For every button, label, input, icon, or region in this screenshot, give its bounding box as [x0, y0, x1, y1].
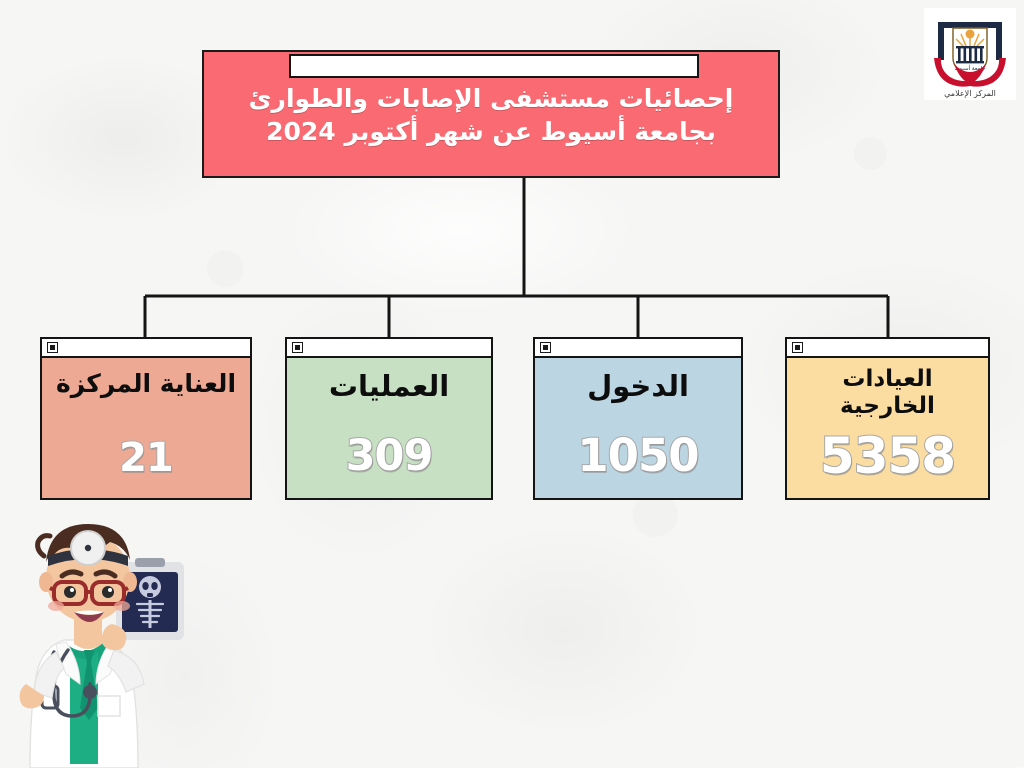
stat-card-label-admissions: الدخول: [535, 369, 741, 403]
page-title-line-2: بجامعة أسيوط عن شهر أكتوبر 2024: [218, 115, 764, 148]
stat-card-topbar: [287, 339, 491, 358]
cartoon-doctor-illustration: [0, 500, 209, 768]
page-title-line-1: إحصائيات مستشفى الإصابات والطوارئ: [218, 82, 764, 115]
stat-card-label-outpatient: العيادات الخارجية: [787, 366, 988, 420]
stat-card-topbar: [787, 339, 988, 358]
stat-card-icu: العناية المركزة 21: [40, 337, 252, 500]
window-square-icon: [48, 343, 57, 352]
stat-card-admissions: الدخول 1050: [533, 337, 743, 500]
assiut-university-media-center-logo: جامعة أسيوط المركز الإعلامي: [924, 8, 1016, 100]
window-square-icon: [793, 343, 802, 352]
window-square-icon: [293, 343, 302, 352]
stat-card-label-operations: العمليات: [287, 369, 491, 403]
stat-card-value-admissions: 1050: [535, 429, 741, 482]
stat-card-value-icu: 21: [42, 435, 250, 481]
stat-card-value-operations: 309: [287, 431, 491, 481]
stat-card-label-icu: العناية المركزة: [42, 369, 250, 399]
window-square-icon: [541, 343, 550, 352]
stat-card-topbar: [535, 339, 741, 358]
page-title: إحصائيات مستشفى الإصابات والطوارئ بجامعة…: [204, 82, 778, 148]
title-card: إحصائيات مستشفى الإصابات والطوارئ بجامعة…: [202, 50, 780, 178]
logo-caption: المركز الإعلامي: [944, 89, 996, 99]
stat-card-topbar: [42, 339, 250, 358]
stat-card-outpatient: العيادات الخارجية 5358: [785, 337, 990, 500]
title-card-topbar: [289, 54, 699, 78]
stat-card-value-outpatient: 5358: [787, 427, 988, 485]
stat-card-operations: العمليات 309: [285, 337, 493, 500]
